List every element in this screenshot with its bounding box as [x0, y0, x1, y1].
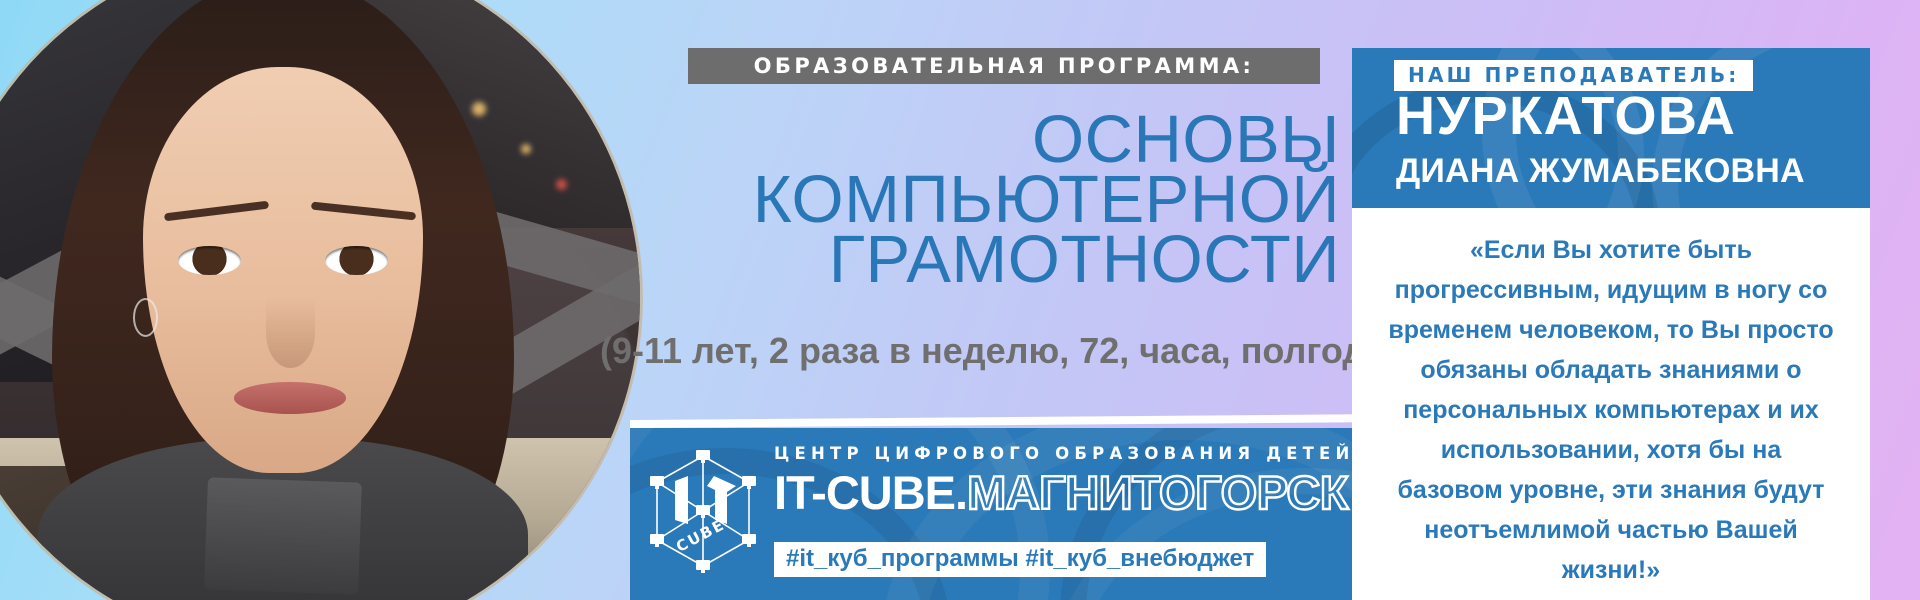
program-details: (9-11 лет, 2 раза в неделю, 72, часа, по… — [600, 330, 1340, 372]
teacher-given-name: ДИАНА ЖУМАБЕКОВНА — [1396, 150, 1860, 192]
teacher-surname: НУРКАТОВА — [1396, 86, 1860, 146]
org-brand: IT-CUBE. МАГНИТОГОРСК — [774, 465, 1355, 520]
teacher-photo — [0, 0, 640, 600]
promo-banner: ОБРАЗОВАТЕЛЬНАЯ ПРОГРАММА: ОСНОВЫ КОМПЬЮ… — [0, 0, 1920, 600]
org-text-block: ЦЕНТР ЦИФРОВОГО ОБРАЗОВАНИЯ ДЕТЕЙ IT-CUB… — [774, 444, 1355, 520]
photo-bg-light-4 — [556, 179, 567, 190]
it-cube-logo: CUBE — [644, 446, 762, 576]
photo-bg-light-1 — [472, 102, 486, 116]
program-title-line-2: КОМПЬЮТЕРНОЙ — [620, 170, 1340, 230]
photo-earring — [133, 298, 158, 337]
org-band: CUBE ЦЕНТР ЦИФРОВОГО ОБРАЗОВАНИЯ ДЕТЕЙ I… — [630, 428, 1356, 600]
photo-image — [0, 0, 640, 600]
org-brand-solid: IT-CUBE. — [774, 465, 967, 520]
band-separator — [630, 414, 1356, 428]
photo-bg-light-2 — [521, 144, 531, 154]
photo-nose — [266, 298, 315, 368]
program-title: ОСНОВЫ КОМПЬЮТЕРНОЙ ГРАМОТНОСТИ — [620, 110, 1340, 290]
it-cube-logo-icon: CUBE — [644, 446, 762, 576]
teacher-panel: НАШ ПРЕПОДАВАТЕЛЬ: НУРКАТОВА ДИАНА ЖУМАБ… — [1352, 48, 1870, 600]
program-label-text: ОБРАЗОВАТЕЛЬНАЯ ПРОГРАММА: — [754, 54, 1255, 78]
photo-eye-right — [325, 246, 388, 275]
teacher-header: НАШ ПРЕПОДАВАТЕЛЬ: НУРКАТОВА ДИАНА ЖУМАБ… — [1352, 48, 1870, 208]
teacher-quote: «Если Вы хотите быть прогрессивным, идущ… — [1352, 208, 1870, 590]
org-tagline: ЦЕНТР ЦИФРОВОГО ОБРАЗОВАНИЯ ДЕТЕЙ — [774, 444, 1355, 463]
photo-eye-left — [178, 246, 241, 275]
program-label-bar: ОБРАЗОВАТЕЛЬНАЯ ПРОГРАММА: — [688, 48, 1320, 84]
photo-lips — [234, 382, 346, 414]
org-brand-outline: МАГНИТОГОРСК — [967, 465, 1348, 520]
program-title-line-1: ОСНОВЫ — [620, 110, 1340, 170]
org-hashtags[interactable]: #it_куб_программы #it_куб_внебюджет — [774, 542, 1266, 577]
photo-collar — [204, 477, 362, 594]
program-title-line-3: ГРАМОТНОСТИ — [620, 230, 1340, 290]
